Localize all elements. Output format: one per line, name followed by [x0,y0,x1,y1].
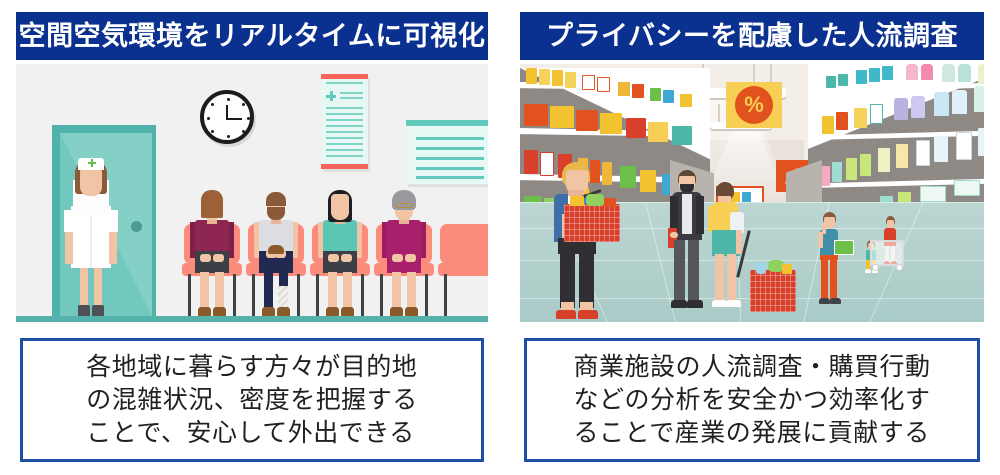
shopper-on-phone [816,212,842,312]
waiting-chairs-row [182,184,488,316]
medical-cross-icon [88,159,96,167]
caption-box-right: 商業施設の人流調査・購買行動 などの分析を安全かつ効率化す ることで産業の発展に… [524,338,980,462]
panel-banner-right: プライバシーを配慮した人流調査 [520,12,984,60]
percent-icon: % [744,94,764,116]
supermarket-aisle-illustration: % % HALF PRICE [520,64,984,322]
caption-box-left: 各地域に暮らす方々が目的地 の混雑状況、密度を把握する ことで、安心して外出でき… [20,338,484,462]
glasses-icon [395,203,413,208]
hand-basket [564,204,620,242]
nurse-face [80,168,102,196]
shopping-cart-far [870,240,904,266]
nurse-figure [60,151,122,316]
panel-privacy-people-flow: プライバシーを配慮した人流調査 % [500,0,1000,475]
slide-root: 空間空気環境をリアルタイムに可視化 [0,0,1000,475]
sale-sign-circle: % [735,86,773,124]
sale-sign: % [726,82,782,128]
shopper-man-dark-coat [668,170,708,318]
beard [267,207,285,220]
door-knob-icon [131,221,142,232]
caption-text-left: 各地域に暮らす方々が目的地 の混雑状況、密度を把握する ことで、安心して外出でき… [86,351,418,450]
seat-3 [310,184,370,316]
banner-title-right: プライバシーを配慮した人流調査 [546,23,958,50]
medical-poster [321,74,368,169]
wall-clock-icon [200,90,254,144]
leg-cast [278,286,288,308]
seat-4 [374,184,434,316]
empty-chair [438,184,488,316]
waiting-room-floor [16,316,488,322]
carried-box [834,240,854,255]
sale-sign-rod [753,64,755,82]
seat-2 [246,184,306,316]
shopper-with-basket-foreground [546,162,606,322]
panel-banner-left: 空間空気環境をリアルタイムに可視化 [16,12,488,60]
panel-air-environment: 空間空気環境をリアルタイムに可視化 [0,0,500,475]
hospital-waiting-room-illustration [16,64,488,322]
supermarket-scene: % % HALF PRICE [520,64,984,322]
trolley-basket [750,270,796,312]
nurse-legs [79,264,103,306]
seat-1 [182,184,242,316]
notice-poster [406,120,488,184]
caption-text-right: 商業施設の人流調査・購買行動 などの分析を安全かつ効率化す ることで産業の発展に… [573,351,930,450]
banner-title-left: 空間空気環境をリアルタイムに可視化 [19,23,486,50]
